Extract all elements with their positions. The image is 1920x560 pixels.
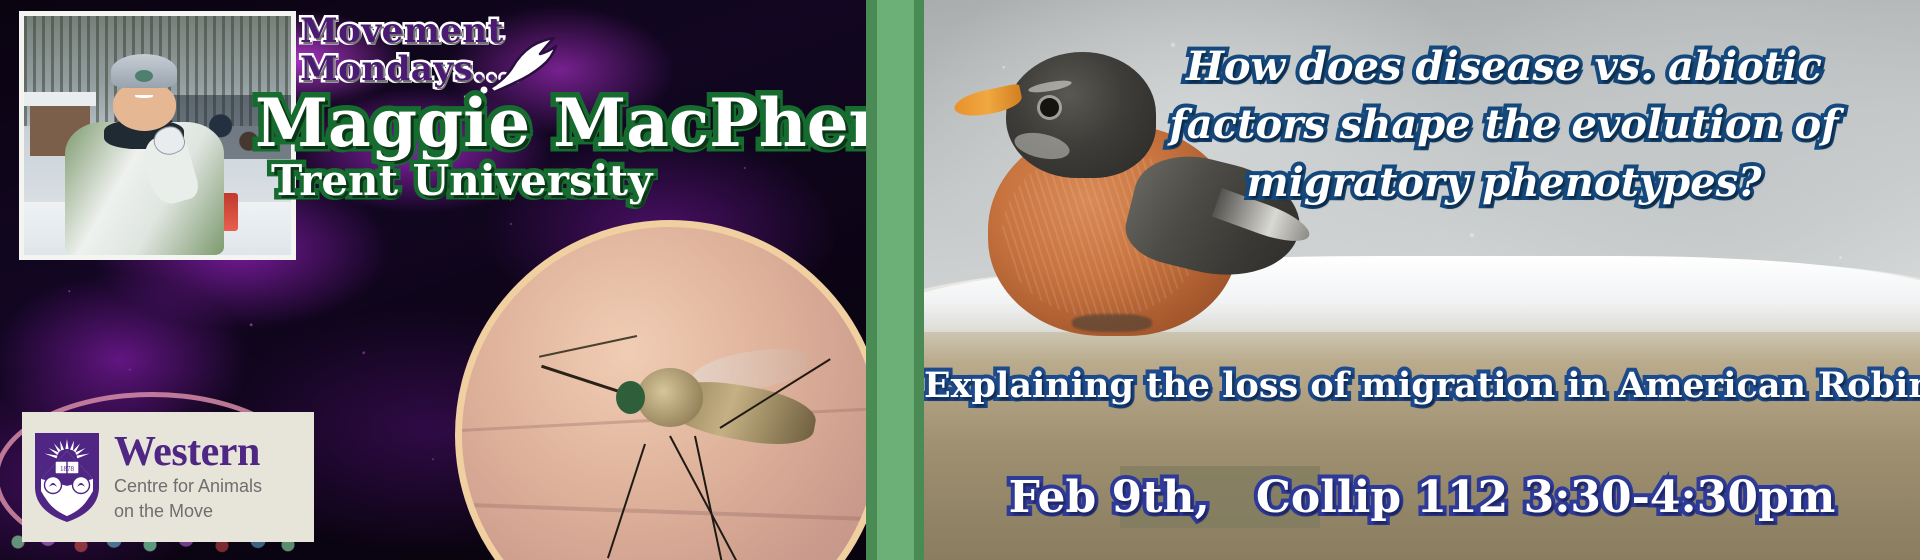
svg-text:1878: 1878 [60,465,75,473]
robin-feet-shadow [1072,314,1152,332]
mosquito-head [616,381,645,414]
speaker-name: Maggie MacPherson [255,90,866,156]
western-logo-subtitle-1: Centre for Animals [114,475,262,497]
western-logo-title: Western [114,432,262,472]
mosquito-leg-1 [669,436,741,560]
western-logo-text: Western Centre for Animals on the Move [114,432,262,522]
right-panel: How does disease vs. abiotic factors sha… [924,0,1920,560]
speaker-affiliation: Trent University [271,158,866,204]
panel-divider [866,0,924,560]
divider-center [877,0,914,560]
talk-question: How does disease vs. abiotic factors sha… [1094,38,1914,212]
western-logo-subtitle-2: on the Move [114,500,262,522]
mosquito-leg-4 [607,444,646,559]
left-panel: Movement Mondays.... Maggie MacPherson T… [0,0,866,560]
photo-person-smile [135,95,153,98]
talk-date: Feb 9th, [1009,472,1210,523]
western-logo: 1878 Western Centre for Animals on the M… [22,412,314,542]
photo-person [61,54,227,255]
mosquito-skin-crease-2 [455,501,866,522]
talk-location-time: Collip 112 3:30-4:30pm [1256,472,1836,523]
photo-person-face [113,82,176,130]
series-title-line2: Mondays.... [300,52,630,86]
talk-question-line-3: migratory phenotypes? [1094,154,1914,212]
series-title: Movement Mondays.... [300,14,630,86]
western-university-shield-icon: 1878 [32,429,102,525]
talk-question-line-2: factors shape the evolution of [1094,96,1914,154]
talk-question-line-1: How does disease vs. abiotic [1094,38,1914,96]
mosquito-thorax [637,368,704,426]
talk-datetime: Feb 9th, Collip 112 3:30-4:30pm [924,470,1920,526]
talk-tagline: Explaining the loss of migration in Amer… [924,364,1920,408]
speaker-name-block: Maggie MacPherson Trent University [255,90,866,204]
mosquito-antenna [539,335,637,358]
seminar-announcement-poster: Movement Mondays.... Maggie MacPherson T… [0,0,1920,560]
robin-eye [1040,98,1059,117]
series-title-line1: Movement [300,14,630,48]
divider-edge-right [914,0,924,560]
photo-person-beanie [111,54,177,88]
divider-edge-left [866,0,877,560]
